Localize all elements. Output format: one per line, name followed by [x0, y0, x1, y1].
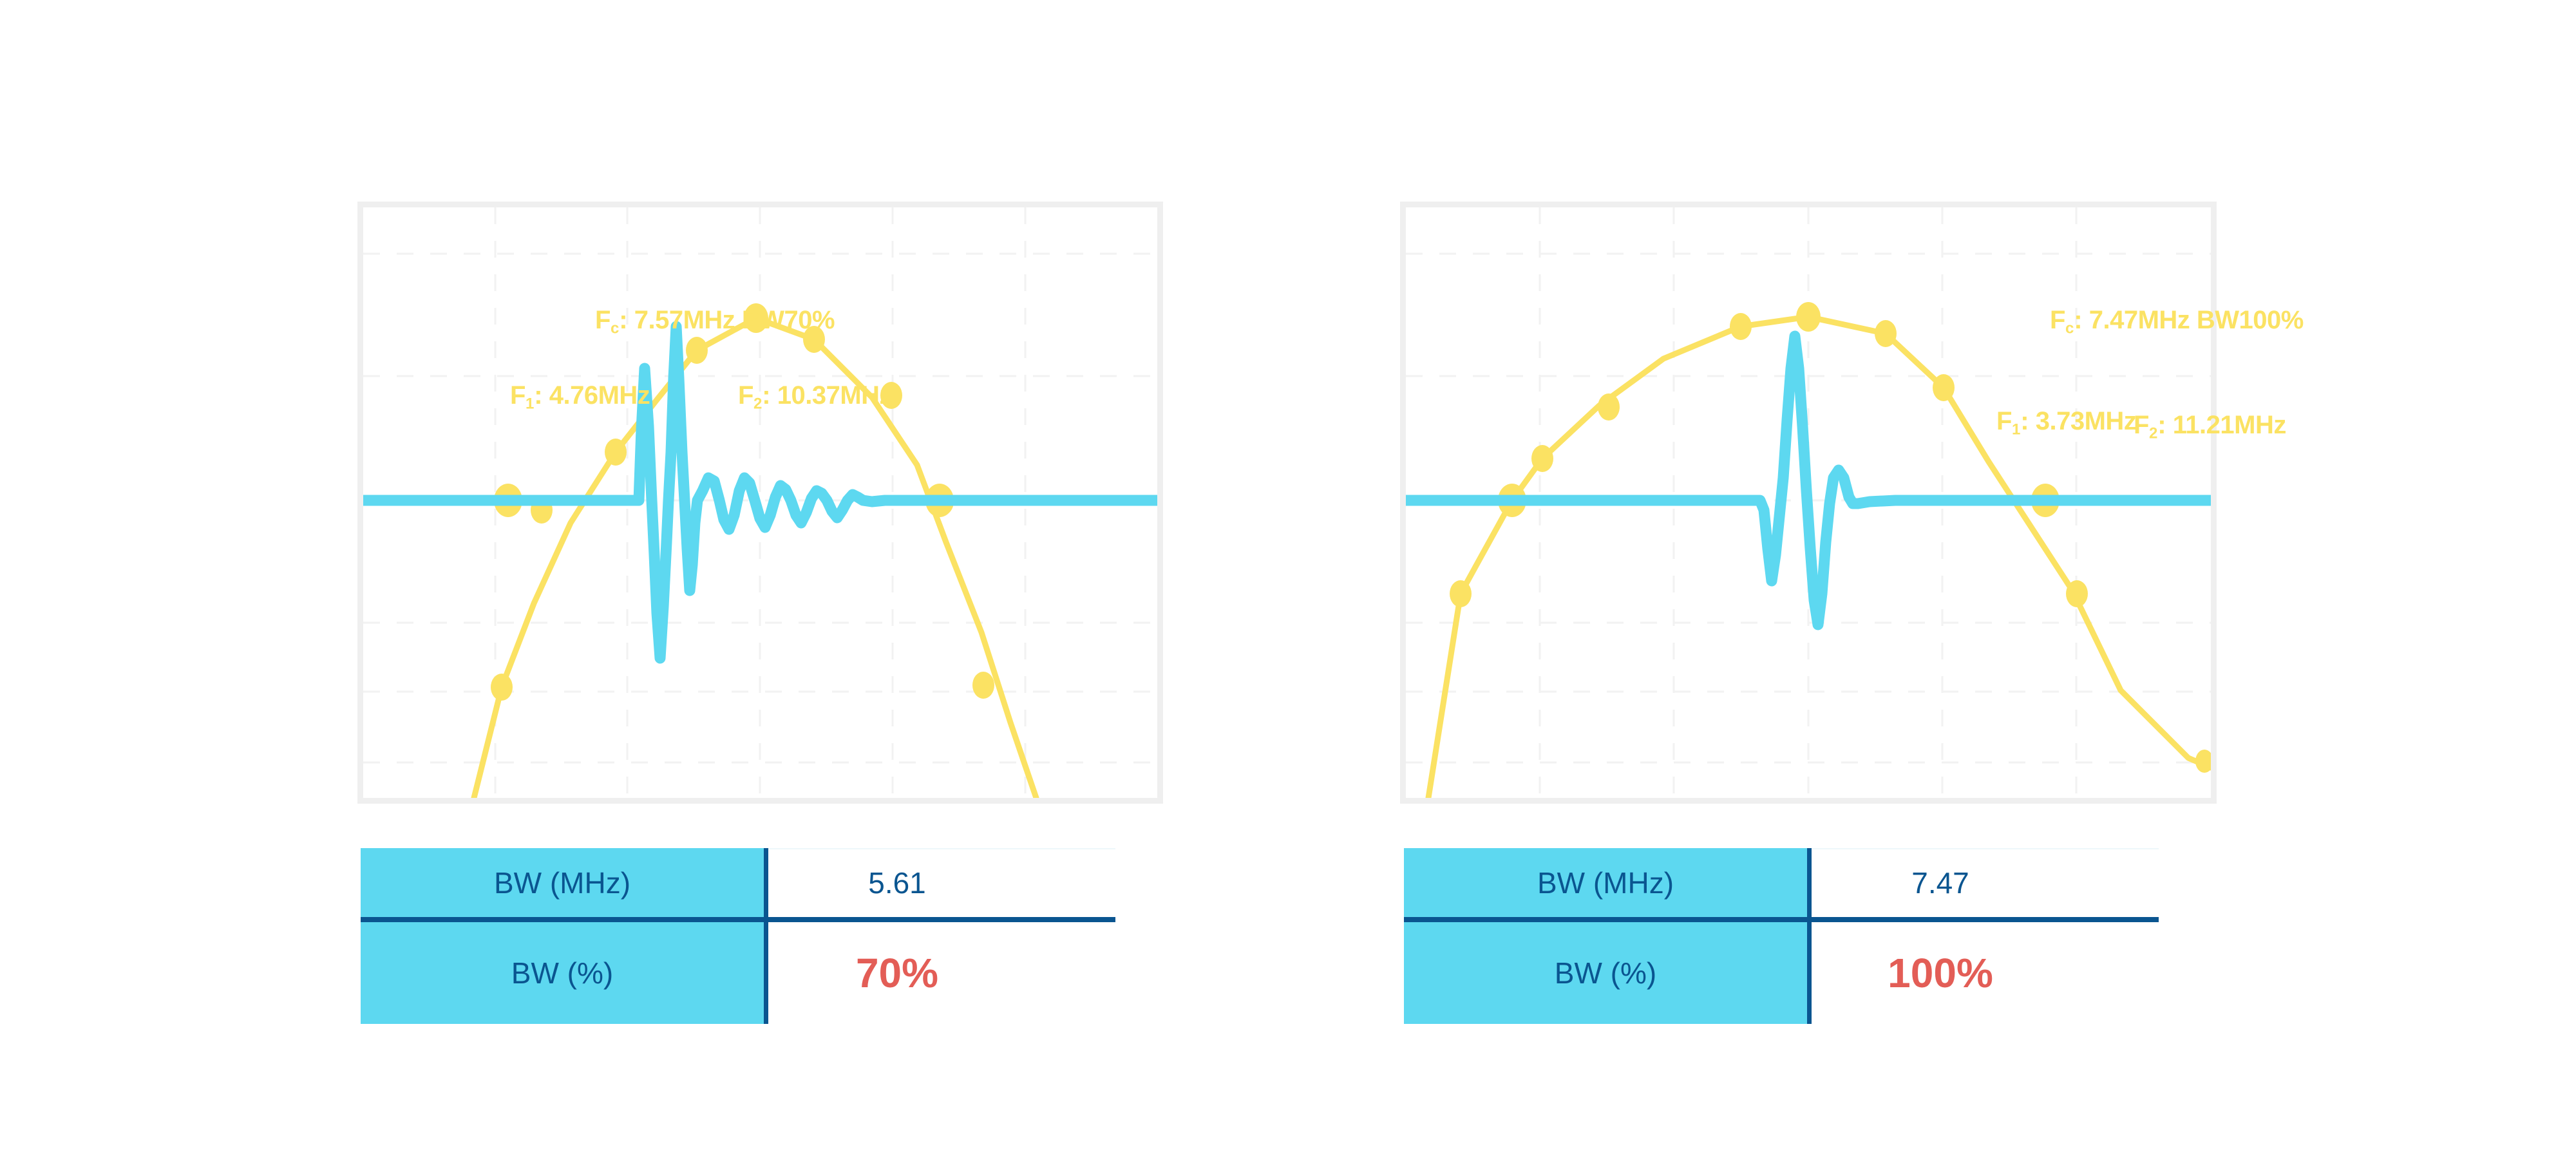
table-row-label-bw-pct: BW (%): [1404, 922, 1807, 1024]
label-fc-sub: c: [2065, 320, 2074, 337]
panel-right: Fc: 7.47MHz BW100% F1: 3.73MHz F2: 11.21…: [1340, 0, 2434, 1154]
label-fc-prefix: F: [2050, 306, 2065, 334]
table-row-label-bw-mhz: BW (MHz): [361, 848, 764, 918]
label-f2-prefix: F: [2134, 411, 2149, 439]
plot-left: [363, 207, 1157, 798]
label-f2-sub: 2: [2149, 425, 2157, 442]
bandwidth-table-right: BW (MHz) 7.47 BW (%) 100%: [1404, 848, 2222, 1048]
table-vertical-rule: [1807, 848, 1812, 1024]
label-f1-text: : 3.73MHz: [2020, 407, 2136, 435]
label-f1-sub: 1: [2012, 421, 2020, 439]
label-center-frequency-left: Fc: 7.57MHz BW70%: [595, 307, 835, 337]
panel-left: Fc: 7.57MHz BW70% F1: 4.76MHz F2: 10.37M…: [296, 0, 1391, 1154]
label-fc-text: : 7.47MHz BW100%: [2074, 306, 2304, 334]
chart-frame-right: Fc: 7.47MHz BW100% F1: 3.73MHz F2: 11.21…: [1400, 202, 2217, 804]
plot-right: [1406, 207, 2211, 798]
label-center-frequency-right: Fc: 7.47MHz BW100%: [2050, 307, 2304, 337]
label-fc-sub: c: [611, 320, 619, 337]
label-fc-text: : 7.57MHz BW70%: [619, 306, 835, 334]
table-horizontal-rule: [1404, 917, 2159, 922]
bandwidth-table-left: BW (MHz) 5.61 BW (%) 70%: [361, 848, 1179, 1048]
label-f1-right: F1: 3.73MHz: [1996, 408, 2136, 438]
label-f2-left: F2: 10.37MHz: [738, 383, 892, 412]
table-row-label-bw-pct: BW (%): [361, 922, 764, 1024]
table-row-label-bw-mhz: BW (MHz): [1404, 848, 1807, 918]
table-row-value-bw-mhz: 7.47: [1812, 848, 2069, 918]
label-fc-prefix: F: [595, 306, 611, 334]
label-f2-text: : 10.37MHz: [762, 381, 892, 410]
plot-svg-left: [363, 207, 1157, 798]
label-f1-left: F1: 4.76MHz: [510, 383, 650, 412]
table-row-value-bw-pct: 70%: [768, 922, 1026, 1024]
table-row-value-bw-mhz: 5.61: [768, 848, 1026, 918]
plot-svg-right: [1406, 207, 2211, 798]
label-f1-prefix: F: [1996, 407, 2012, 435]
figure-root: Fc: 7.57MHz BW70% F1: 4.76MHz F2: 10.37M…: [0, 0, 2576, 1154]
table-vertical-rule: [764, 848, 768, 1024]
label-f1-prefix: F: [510, 381, 526, 410]
label-f2-sub: 2: [753, 395, 762, 413]
label-f1-sub: 1: [526, 395, 534, 413]
chart-frame-left: Fc: 7.57MHz BW70% F1: 4.76MHz F2: 10.37M…: [357, 202, 1163, 804]
label-f1-text: : 4.76MHz: [534, 381, 650, 410]
label-f2-right: F2: 11.21MHz: [2134, 412, 2286, 442]
table-row-value-bw-pct: 100%: [1812, 922, 2069, 1024]
table-horizontal-rule: [361, 917, 1115, 922]
label-f2-text: : 11.21MHz: [2157, 411, 2286, 439]
label-f2-prefix: F: [738, 381, 753, 410]
